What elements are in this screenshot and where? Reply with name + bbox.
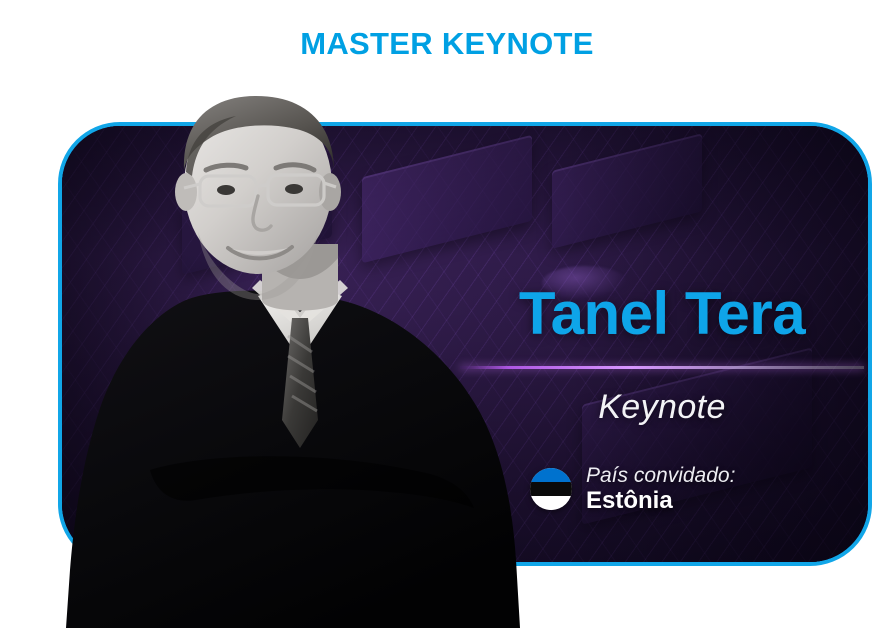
keynote-speaker-slide: MASTER KEYNOTE Tanel Tera Keynote País c… [0, 0, 894, 628]
speaker-name: Tanel Tera [460, 284, 864, 344]
speaker-card: Tanel Tera Keynote País convidado: Estôn… [58, 122, 872, 566]
page-title: MASTER KEYNOTE [0, 26, 894, 62]
divider [460, 366, 864, 369]
speaker-role: Keynote [460, 388, 864, 427]
guest-country-block: País convidado: Estônia [530, 464, 830, 514]
guest-country-label: País convidado: [586, 464, 735, 488]
estonia-flag-circle-icon [530, 468, 572, 510]
guest-country-name: Estônia [586, 488, 735, 515]
